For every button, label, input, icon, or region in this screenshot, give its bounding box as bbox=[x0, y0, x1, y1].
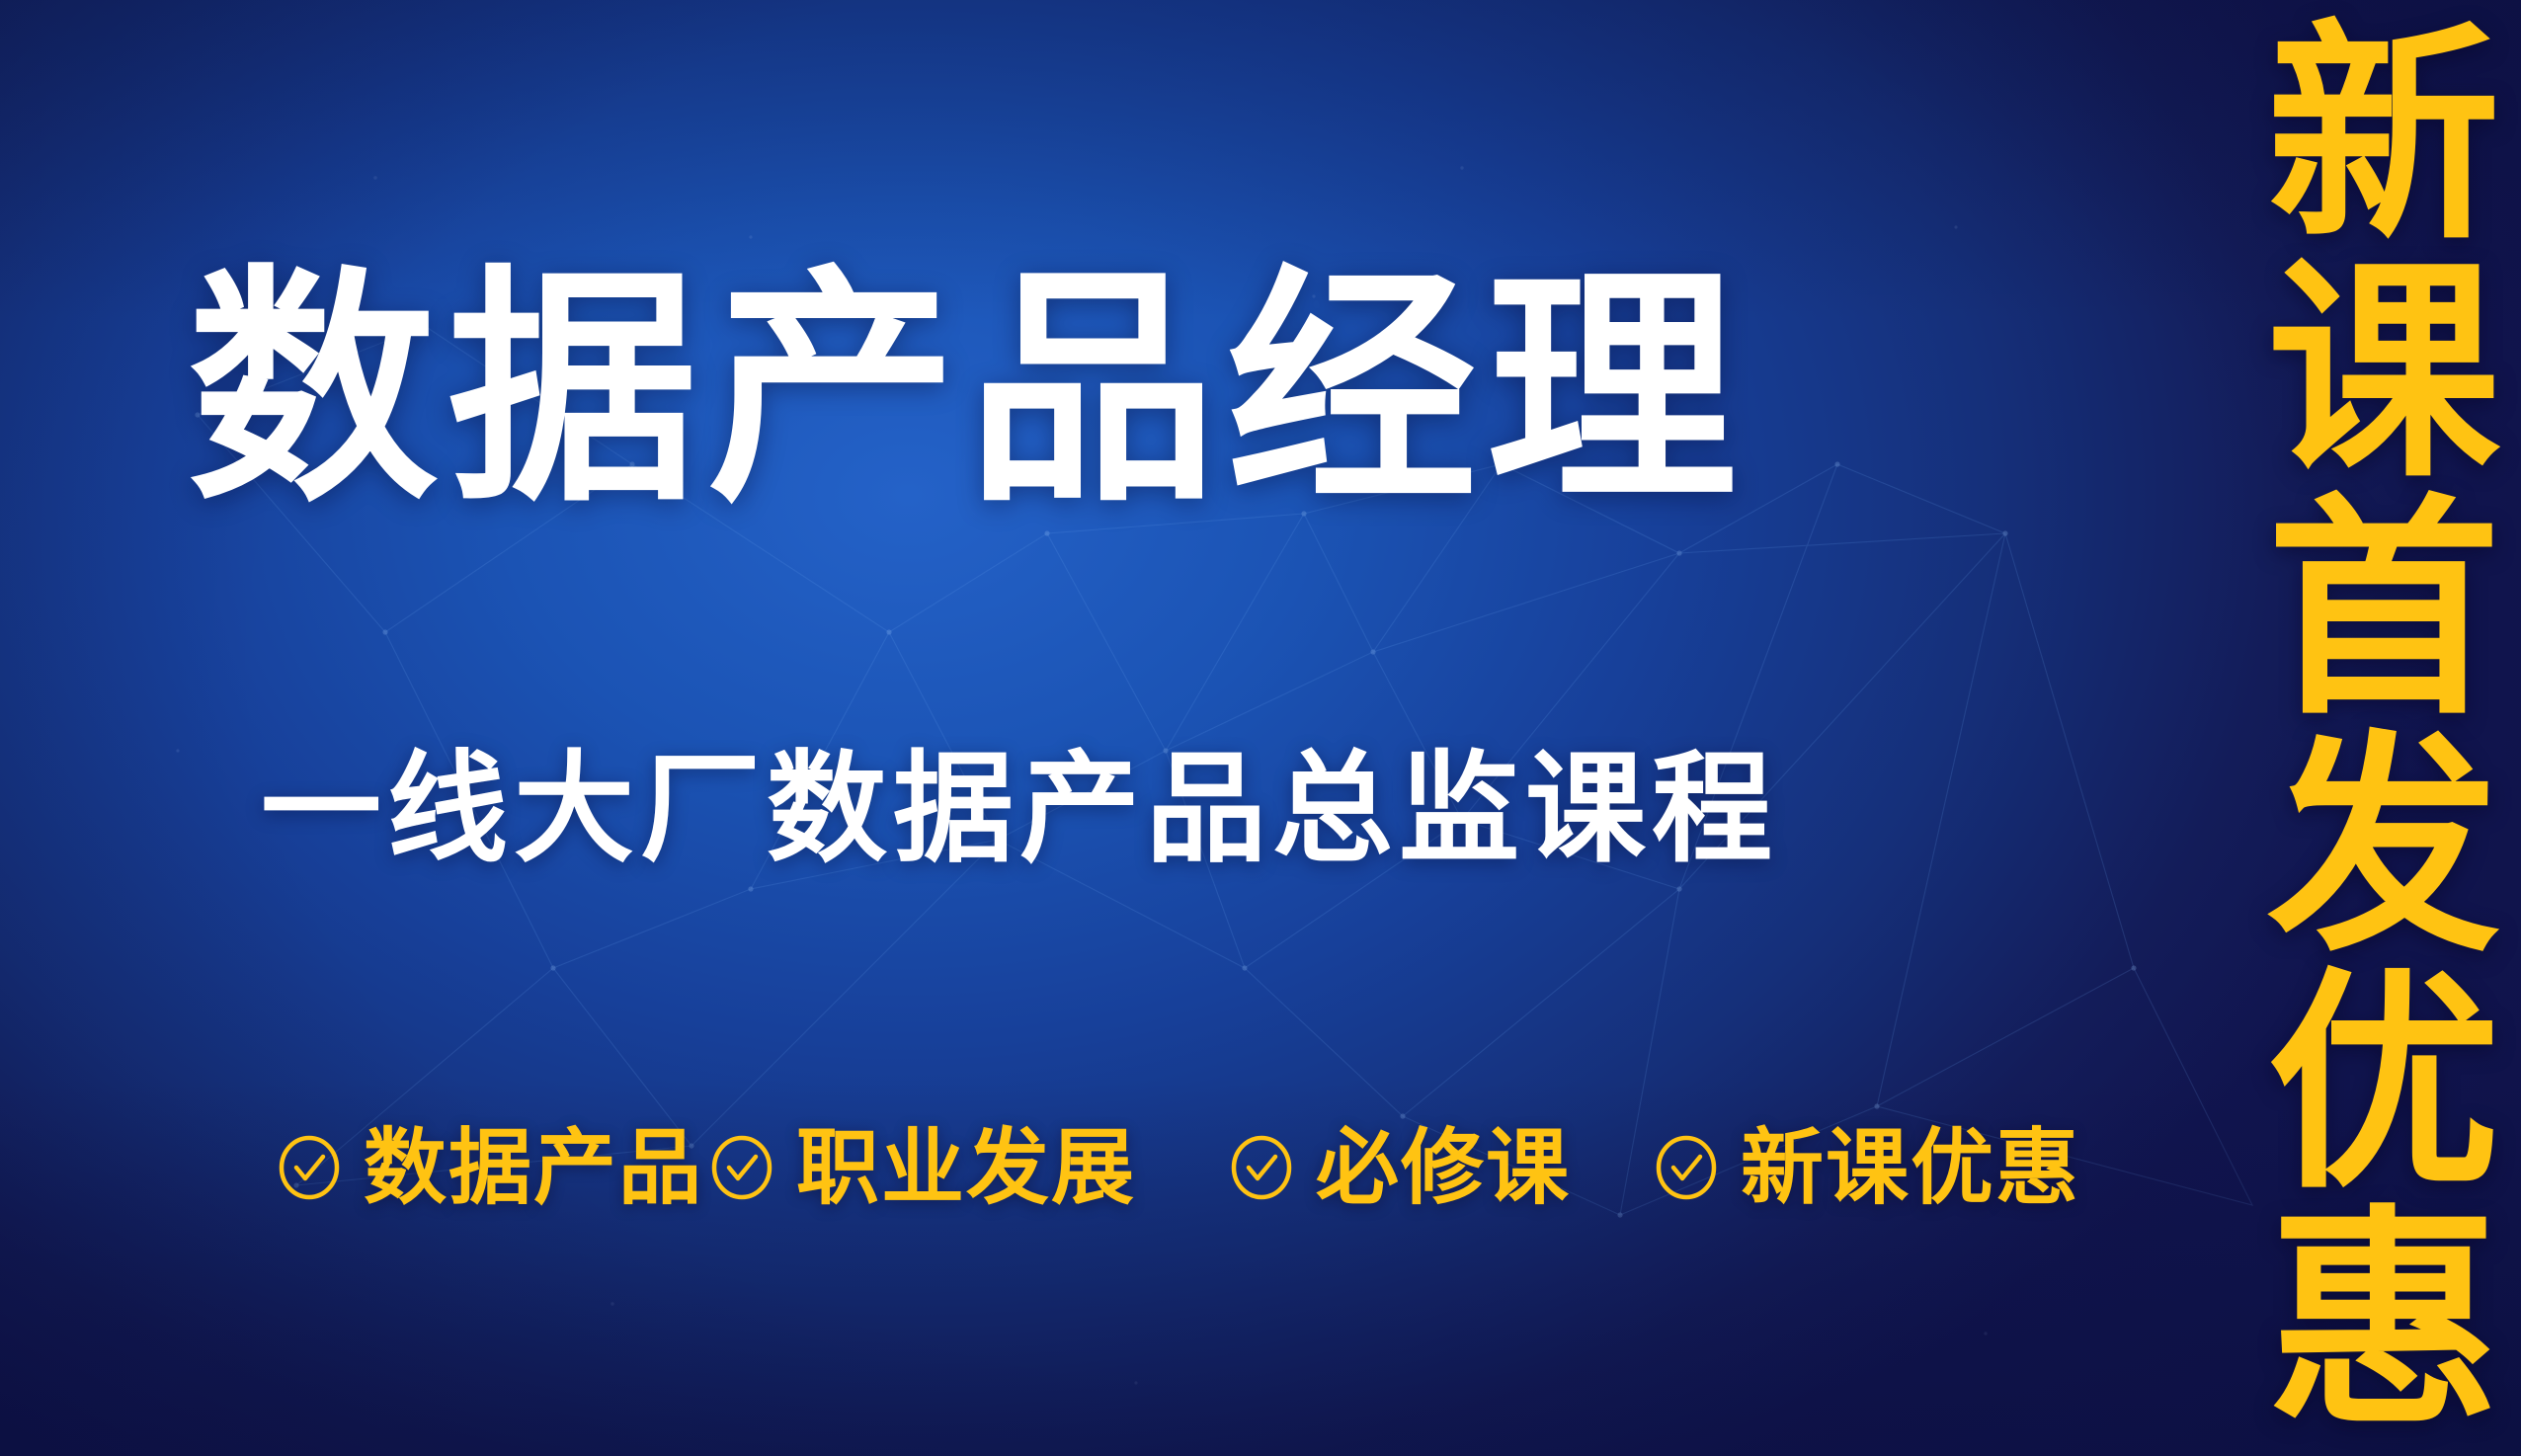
feature-item-1[interactable]: 数据产品 bbox=[277, 1126, 703, 1209]
circle-check-icon bbox=[1654, 1135, 1719, 1200]
feature-label: 必修课 bbox=[1316, 1126, 1571, 1209]
vertical-promo-char-3: 首 bbox=[2267, 496, 2500, 727]
feature-item-2[interactable]: 职业发展 bbox=[709, 1126, 1136, 1209]
vertical-promo-ribbon: 新 课 首 发 优 惠 bbox=[2260, 14, 2507, 1442]
vertical-promo-char-6: 惠 bbox=[2267, 1207, 2500, 1438]
vertical-promo-char-4: 发 bbox=[2267, 733, 2500, 964]
vertical-promo-char-1: 新 bbox=[2267, 22, 2500, 253]
circle-check-icon bbox=[277, 1135, 342, 1200]
feature-item-4[interactable]: 新课优惠 bbox=[1654, 1126, 2080, 1209]
feature-list: 数据产品 职业发展 必修课 bbox=[166, 1126, 2080, 1209]
promo-banner: 数据产品经理 一线大厂数据产品总监课程 数据产品 bbox=[0, 0, 2521, 1456]
feature-label: 职业发展 bbox=[796, 1126, 1136, 1209]
content-area: 数据产品经理 一线大厂数据产品总监课程 数据产品 bbox=[166, 0, 2201, 1456]
subtitle: 一线大厂数据产品总监课程 bbox=[261, 749, 1778, 869]
vertical-promo-char-5: 优 bbox=[2267, 970, 2500, 1201]
feature-item-3[interactable]: 必修课 bbox=[1229, 1126, 1571, 1209]
circle-check-icon bbox=[709, 1135, 774, 1200]
feature-label: 数据产品 bbox=[364, 1126, 703, 1209]
page-title: 数据产品经理 bbox=[188, 265, 1747, 515]
vertical-promo-char-2: 课 bbox=[2267, 259, 2500, 490]
circle-check-icon bbox=[1229, 1135, 1294, 1200]
feature-label: 新课优惠 bbox=[1741, 1126, 2080, 1209]
